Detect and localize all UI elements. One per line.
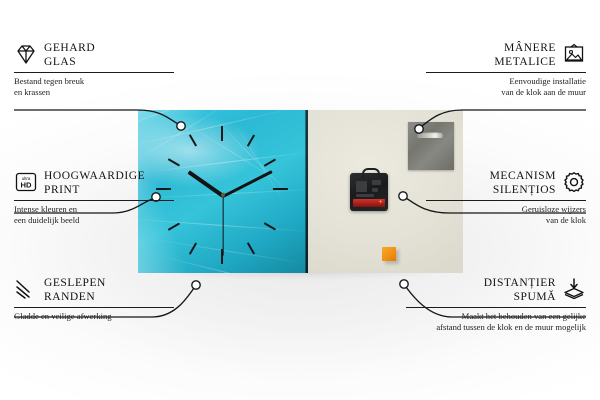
callout-title-line2: METALICE	[494, 56, 556, 68]
callout-title: GEHARD GLAS	[44, 42, 95, 69]
callout-rule	[14, 200, 174, 201]
callout-desc-line2: van de klok aan de muur	[501, 87, 586, 97]
second-hand	[222, 196, 223, 256]
callout-desc-line1: Eenvoudige installatie	[509, 76, 586, 86]
callout-desc-line2: afstand tussen de klok en de muur mogeli…	[436, 322, 586, 332]
hour-tick	[189, 134, 197, 146]
beveled-edges-icon	[14, 277, 38, 301]
svg-text:HD: HD	[21, 181, 32, 190]
hour-tick	[273, 188, 288, 190]
hour-tick	[168, 159, 180, 167]
gear-icon	[562, 170, 586, 194]
callout-description: Maakt het behouden van een gelijke afsta…	[406, 311, 586, 332]
product-photo: +	[138, 110, 463, 273]
callout-title-line1: HOOGWAARDIGE	[44, 170, 145, 182]
infographic-canvas: + GEHARD	[0, 0, 600, 400]
hour-tick	[247, 134, 255, 146]
clock-mechanism: +	[350, 173, 388, 211]
callout-description: Intense kleuren en een duidelijk beeld	[14, 204, 174, 225]
callout-desc-line1: Bestand tegen breuk	[14, 76, 84, 86]
callout-manere-metalice[interactable]: MÂNERE METALICE Eenvoudige installatie v…	[426, 42, 586, 97]
callout-hoogwaardige-print[interactable]: ultra HD HOOGWAARDIGE PRINT Intense kleu…	[14, 170, 174, 225]
callout-title-line2: GLAS	[44, 56, 76, 68]
battery-plus-mark: +	[378, 200, 383, 206]
callout-description: Bestand tegen breuk en krassen	[14, 76, 174, 97]
callout-title-line2: RANDEN	[44, 291, 95, 303]
callout-rule	[426, 200, 586, 201]
callout-rule	[406, 307, 586, 308]
callout-rule	[14, 307, 174, 308]
callout-title: HOOGWAARDIGE PRINT	[44, 170, 145, 197]
callout-desc-line1: Intense kleuren en	[14, 204, 77, 214]
callout-title-line1: DISTANȚIER	[484, 277, 556, 289]
metal-hanger-plate	[408, 122, 454, 170]
ultra-hd-icon: ultra HD	[14, 170, 38, 194]
callout-rule	[426, 72, 586, 73]
mechanism-hanger-loop	[362, 168, 380, 179]
callout-mecanism-silentios[interactable]: MECANISM SILENȚIOS Geruisloze wijzers va…	[426, 170, 586, 225]
hanger-slot	[417, 132, 443, 138]
callout-desc-line1: Geruisloze wijzers	[522, 204, 586, 214]
callout-desc-line1: Maakt het behouden van een gelijke	[462, 311, 586, 321]
hour-tick	[221, 126, 223, 141]
callout-title-line2: SPUMĂ	[514, 291, 556, 303]
spacer-down-arrow-icon	[562, 277, 586, 301]
callout-title-line1: GESLEPEN	[44, 277, 106, 289]
clock-pivot	[221, 193, 225, 197]
battery: +	[353, 199, 385, 207]
callout-title-line1: GEHARD	[44, 42, 95, 54]
callout-title-line2: PRINT	[44, 184, 80, 196]
callout-desc-line2: een duidelijk beeld	[14, 215, 79, 225]
callout-title-line2: SILENȚIOS	[493, 184, 556, 196]
callout-title: MECANISM SILENȚIOS	[490, 170, 556, 197]
callout-desc-line2: en krassen	[14, 87, 50, 97]
callout-desc-line2: van de klok	[546, 215, 586, 225]
minute-hand	[222, 170, 272, 198]
callout-description: Eenvoudige installatie van de klok aan d…	[426, 76, 586, 97]
callout-title-line1: MECANISM	[490, 170, 556, 182]
callout-distantier-spuma[interactable]: DISTANȚIER SPUMĂ Maakt het behouden van …	[406, 277, 586, 332]
callout-description: Geruisloze wijzers van de klok	[426, 204, 586, 225]
wall-hanging-frame-icon	[562, 42, 586, 66]
callout-rule	[14, 72, 174, 73]
callout-desc-line1: Gladde en veilige afwerking	[14, 311, 112, 321]
callout-title: GESLEPEN RANDEN	[44, 277, 106, 304]
foam-spacer	[382, 247, 396, 261]
callout-title: DISTANȚIER SPUMĂ	[484, 277, 556, 304]
diamond-icon	[14, 42, 38, 66]
hour-tick	[247, 242, 255, 254]
hour-tick	[264, 159, 276, 167]
callout-geslepen-randen[interactable]: GESLEPEN RANDEN Gladde en veilige afwerk…	[14, 277, 174, 322]
callout-title-line1: MÂNERE	[504, 42, 556, 54]
callout-title: MÂNERE METALICE	[494, 42, 556, 69]
callout-description: Gladde en veilige afwerking	[14, 311, 174, 322]
callout-gehard-glas[interactable]: GEHARD GLAS Bestand tegen breuk en krass…	[14, 42, 174, 97]
